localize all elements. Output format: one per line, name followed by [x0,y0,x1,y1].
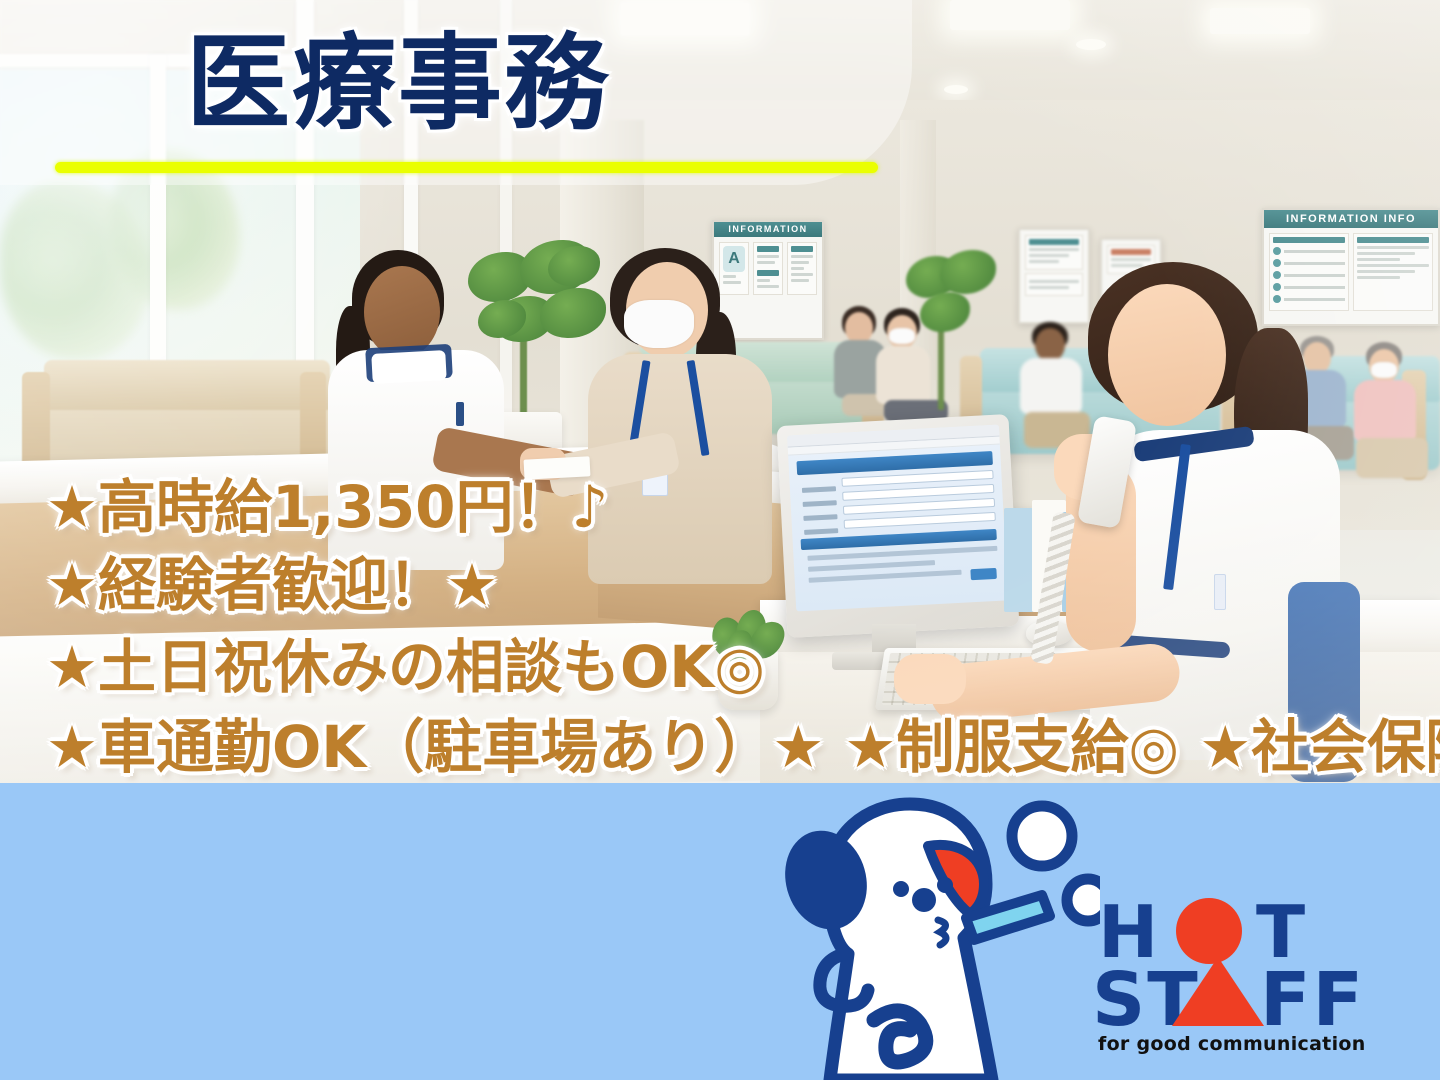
logo-svg: H T ST FF for good communication [1096,895,1414,1055]
title-underline [55,162,878,173]
logo-red-circle [1176,898,1242,964]
hot-staff-dog-mascot [770,788,1100,1080]
page-title: 医療事務 [186,26,610,140]
logo-text-ff: FF [1260,957,1365,1043]
benefit-line-3: ★土日祝休みの相談もOK◎ [46,638,765,696]
logo-tagline: for good communication [1098,1033,1366,1055]
benefit-line-2: ★経験者歓迎！★ [46,556,498,614]
mascot-nose [912,888,936,912]
mascot-eye-left [893,881,909,897]
hot-staff-logo: H T ST FF for good communication [1096,895,1414,1055]
mascot-body [828,804,992,1080]
logo-text-st: ST [1096,957,1200,1043]
mascot-svg [770,788,1100,1080]
benefit-line-1: ★高時給1,350円！♪ [46,478,608,536]
job-poster: INFORMATION A [0,0,1440,1080]
footer-band: H T ST FF for good communication [0,783,1440,1080]
mascot-eye-right [937,877,953,893]
bubble-large [1012,806,1072,866]
benefit-line-4: ★車通勤OK（駐車場あり）★ ★制服支給◎ ★社会保険完備♪ [46,718,1440,776]
